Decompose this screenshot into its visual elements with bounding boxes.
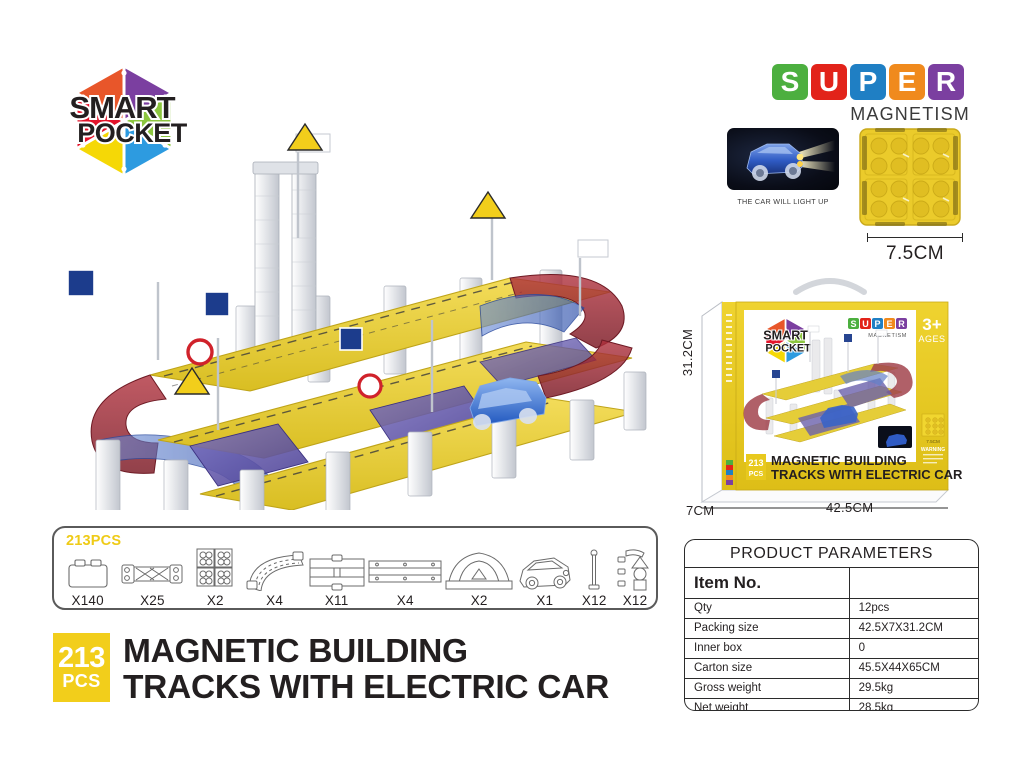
magnet-tile-feature: 7.5CM [855,126,975,265]
svg-text:TRACKS WITH ELECTRIC CAR: TRACKS WITH ELECTRIC CAR [771,467,963,482]
long-connector-part-icon [120,555,184,591]
part-item-magnetic-cube: X140 [58,548,117,608]
param-value: 0 [849,638,978,658]
retail-box-mockup: SMART POCKET S U P E R MAGNETISM 3+ AGE [700,268,980,508]
svg-text:MAGNETISM: MAGNETISM [868,333,907,339]
tile-dimension-line [867,233,963,242]
part-qty: X1 [536,593,553,608]
table-row: Item No. [685,568,978,598]
track-assembly-render [40,110,680,510]
super-letter-u: U [811,64,847,100]
title-lines: MAGNETIC BUILDING TRACKS WITH ELECTRIC C… [123,633,609,706]
param-key: Net weight [685,698,849,711]
product-sheet-page: SMART POCKET S U P E R MAGNETISM [0,0,1024,768]
part-item-road-sign: X12 [614,548,656,608]
product-title-block: 213 PCS MAGNETIC BUILDING TRACKS WITH EL… [53,633,609,706]
car-icon [727,128,839,190]
svg-text:AGES: AGES [918,334,945,344]
part-qty: X2 [471,593,488,608]
magnetic-cube-part-icon [63,555,113,591]
part-qty: X12 [582,593,607,608]
retail-box-illustration: SMART POCKET S U P E R MAGNETISM 3+ AGE [700,268,980,512]
part-qty: X2 [207,593,224,608]
part-qty: X4 [397,593,414,608]
param-key: Gross weight [685,678,849,698]
arch-ramp-part-icon [444,549,514,591]
param-value: 12pcs [849,598,978,618]
square-plate-part-icon [192,547,238,591]
svg-text:213: 213 [748,458,763,468]
svg-text:3+: 3+ [922,315,941,334]
svg-text:P: P [874,319,880,329]
parts-count-label: 213PCS [66,533,121,549]
part-qty: X140 [71,593,103,608]
param-value: 29.5kg [849,678,978,698]
magnetism-subtitle: MAGNETISM [772,104,972,125]
super-letter-s: S [772,64,808,100]
param-key: Item No. [685,568,849,598]
param-value: 42.5X7X31.2CM [849,618,978,638]
svg-text:MAGNETIC BUILDING: MAGNETIC BUILDING [771,453,907,468]
super-letters: S U P E R [772,64,972,100]
svg-text:PCS: PCS [749,471,764,478]
param-key: Carton size [685,658,849,678]
part-qty: X4 [266,593,283,608]
super-magnetism-logo: S U P E R MAGNETISM [772,64,972,125]
param-key: Inner box [685,638,849,658]
light-up-car-photo [727,128,839,190]
part-qty: X11 [325,593,349,608]
svg-text:7.5CM: 7.5CM [926,439,940,444]
super-letter-e: E [889,64,925,100]
age-badge: 3+ AGES [918,315,945,344]
part-item-straight-track: X11 [306,548,367,608]
param-value: 28.5kg [849,698,978,711]
sign-pole-part-icon [583,549,605,591]
part-item-arch-ramp: X2 [443,548,515,608]
box-depth-dimension: 7CM [686,503,714,518]
product-parameters-heading: PRODUCT PARAMETERS [685,540,978,568]
part-item-electric-car: X1 [515,548,574,608]
part-item-curved-track: X4 [243,548,306,608]
svg-text:R: R [898,319,905,329]
product-parameters-panel: PRODUCT PARAMETERS Item No. Qty 12pcs Pa… [684,539,979,711]
product-parameters-table: Item No. Qty 12pcs Packing size 42.5X7X3… [685,568,978,711]
curved-track-part-icon [245,551,305,591]
track-assembly-illustration [40,110,680,510]
parts-inventory-strip: 213PCS X140 [52,526,658,610]
param-key: Packing size [685,618,849,638]
table-row: Inner box 0 [685,638,978,658]
part-qty: X12 [623,593,648,608]
parts-row: X140 X25 [58,548,656,608]
table-row: Packing size 42.5X7X31.2CM [685,618,978,638]
part-item-long-connector: X25 [117,548,187,608]
box-width-dimension: 42.5CM [826,500,873,515]
badge-number: 213 [58,645,105,673]
super-letter-p: P [850,64,886,100]
param-key: Qty [685,598,849,618]
product-title-line1: MAGNETIC BUILDING [123,634,609,670]
part-item-square-plate: X2 [187,548,243,608]
part-item-long-track: X4 [367,548,443,608]
param-value [849,568,978,598]
car-light-caption: THE CAR WILL LIGHT UP [727,197,839,206]
tile-dimension-label: 7.5CM [855,243,975,265]
magnet-tile-icon [855,126,965,228]
svg-text:WARNING: WARNING [921,447,945,453]
badge-unit: PCS [62,673,100,690]
part-item-sign-pole: X12 [574,548,614,608]
svg-text:E: E [886,319,892,329]
road-sign-part-icon [614,547,656,591]
table-row: Qty 12pcs [685,598,978,618]
svg-text:S: S [850,319,856,329]
table-row: Gross weight 29.5kg [685,678,978,698]
svg-text:SMART: SMART [763,329,808,343]
electric-car-part-icon [516,551,574,591]
svg-text:POCKET: POCKET [765,342,811,354]
product-title-line2: TRACKS WITH ELECTRIC CAR [123,670,609,706]
table-row: Carton size 45.5X44X65CM [685,658,978,678]
box-height-dimension: 31.2CM [680,329,695,376]
straight-track-part-icon [308,553,366,591]
pieces-count-badge: 213 PCS [53,633,110,702]
svg-text:U: U [862,319,869,329]
table-row: Net weight 28.5kg [685,698,978,711]
param-value: 45.5X44X65CM [849,658,978,678]
super-letter-r: R [928,64,964,100]
long-track-part-icon [367,555,443,591]
car-light-feature: THE CAR WILL LIGHT UP [727,128,839,206]
part-qty: X25 [140,593,165,608]
